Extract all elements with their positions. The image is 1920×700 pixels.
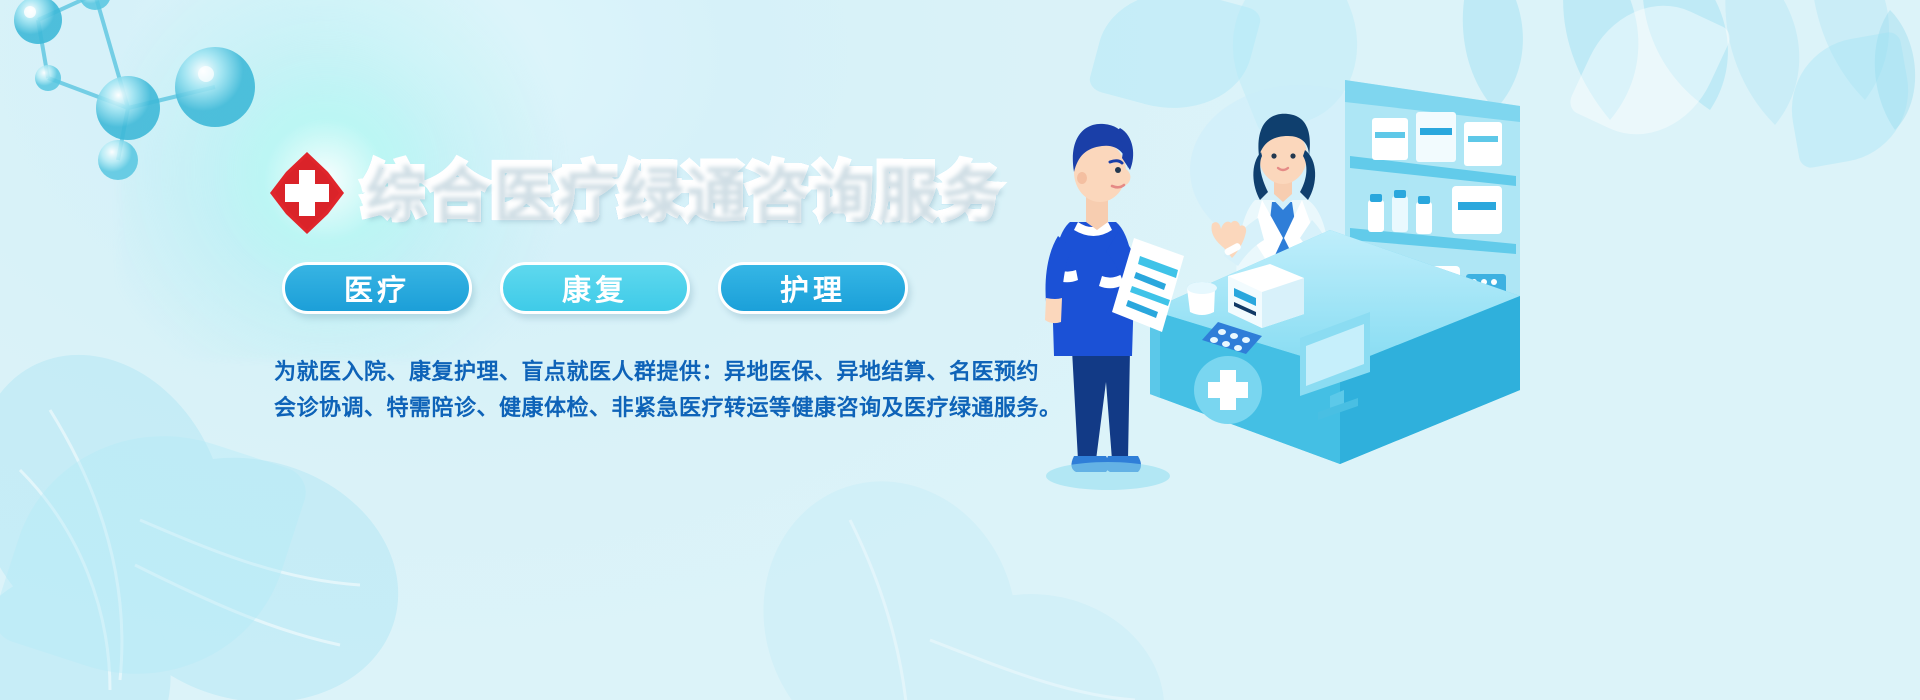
description-line-2: 会诊协调、特需陪诊、健康体检、非紧急医疗转运等健康咨询及医疗绿通服务。 (274, 390, 1028, 426)
description-block: 为就医入院、康复护理、盲点就医人群提供：异地医保、异地结算、名医预约 会诊协调、… (274, 354, 1028, 425)
petal-shape (1780, 30, 1919, 169)
healthcare-banner: 综合医疗绿通咨询服务 医疗 康复 护理 为就医入院、康复护理、盲点就医人群提供：… (0, 0, 1920, 700)
medicine-cup (1187, 282, 1217, 315)
title-row: 综合医疗绿通咨询服务 (268, 150, 1028, 236)
patient-figure (1045, 124, 1184, 490)
medical-cross-icon (268, 150, 346, 236)
tag-label: 护理 (780, 267, 846, 309)
tag-list: 医疗 康复 护理 (282, 262, 1028, 314)
tag-label: 康复 (562, 267, 628, 309)
petal-shape (0, 396, 312, 700)
banner-content: 综合医疗绿通咨询服务 医疗 康复 护理 为就医入院、康复护理、盲点就医人群提供：… (268, 150, 1028, 425)
medical-cross-emblem (1194, 356, 1262, 424)
page-title: 综合医疗绿通咨询服务 (362, 162, 1002, 224)
tag-rehabilitation[interactable]: 康复 (500, 262, 690, 314)
tag-label: 医疗 (344, 267, 410, 309)
pharmacy-illustration (1000, 60, 1560, 530)
tag-nursing[interactable]: 护理 (718, 262, 908, 314)
petal-shape (1566, 0, 1734, 159)
tag-medical[interactable]: 医疗 (282, 262, 472, 314)
description-line-1: 为就医入院、康复护理、盲点就医人群提供：异地医保、异地结算、名医预约 (274, 354, 1028, 390)
